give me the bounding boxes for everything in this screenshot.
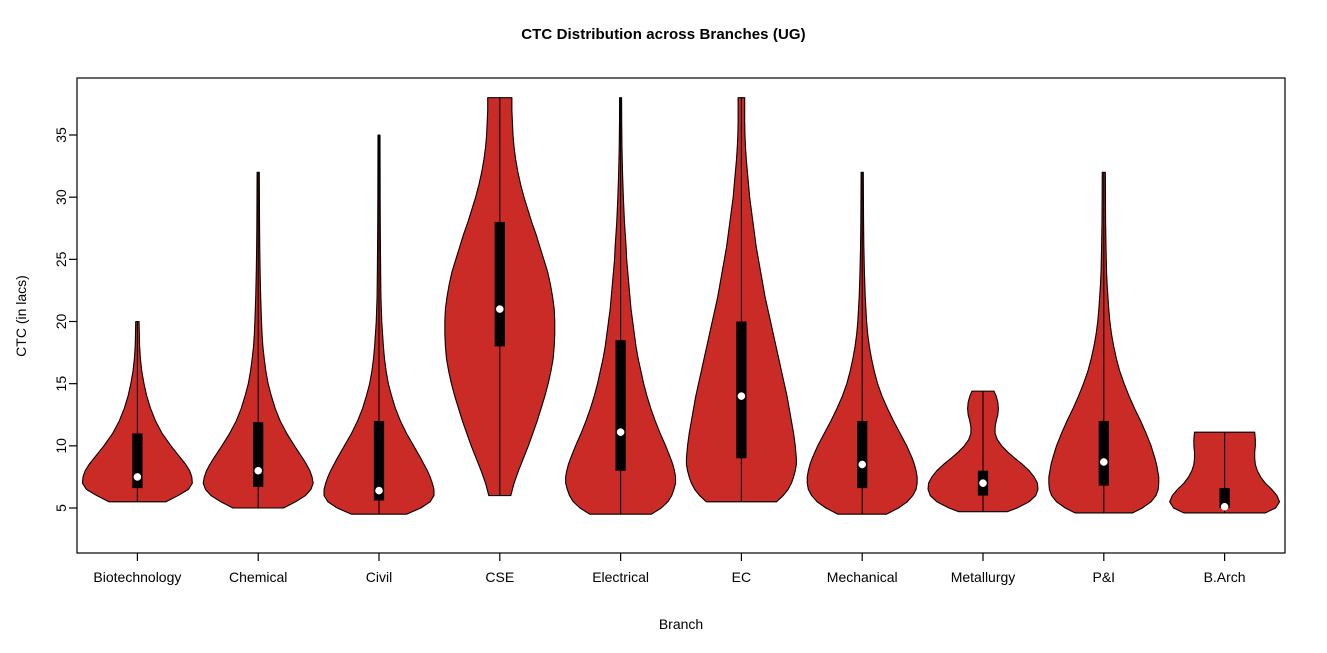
iqr-box (1099, 421, 1109, 486)
x-tick-label-electrical: Electrical (592, 569, 649, 585)
iqr-box (736, 322, 746, 459)
y-axis-ticks: 5101520253035 (53, 127, 77, 512)
y-axis-title: CTC (in lacs) (13, 275, 29, 357)
y-tick-label: 10 (53, 438, 69, 454)
violin-electrical[interactable] (566, 98, 676, 515)
y-tick-label: 30 (53, 189, 69, 205)
y-tick-label: 20 (53, 314, 69, 330)
x-tick-label-chemical: Chemical (229, 569, 287, 585)
iqr-box (253, 422, 263, 487)
x-tick-label-ec: EC (732, 569, 751, 585)
violin-b-arch[interactable] (1170, 432, 1280, 513)
x-axis-title: Branch (659, 616, 703, 632)
violin-civil[interactable] (324, 135, 434, 514)
x-tick-label-mechanical: Mechanical (827, 569, 898, 585)
iqr-box (495, 222, 505, 346)
violin-chemical[interactable] (203, 172, 313, 508)
violin-p-i[interactable] (1049, 172, 1159, 513)
violin-metallurgy[interactable] (928, 391, 1038, 512)
x-tick-label-metallurgy: Metallurgy (951, 569, 1016, 585)
violins-layer (82, 98, 1279, 515)
x-tick-label-p-i: P&I (1093, 569, 1116, 585)
median-dot (1221, 503, 1228, 510)
violin-cse[interactable] (445, 98, 555, 496)
y-tick-label: 35 (53, 127, 69, 143)
x-axis-ticks: BiotechnologyChemicalCivilCSEElectricalE… (93, 553, 1245, 585)
x-tick-label-biotechnology: Biotechnology (93, 569, 181, 585)
x-tick-label-cse: CSE (485, 569, 514, 585)
violin-ec[interactable] (686, 98, 796, 502)
chart-canvas: 5101520253035 BiotechnologyChemicalCivil… (0, 0, 1327, 653)
y-tick-label: 25 (53, 251, 69, 267)
median-dot (979, 480, 986, 487)
median-dot (1100, 458, 1107, 465)
median-dot (134, 473, 141, 480)
y-tick-label: 15 (53, 376, 69, 392)
violin-biotechnology[interactable] (82, 322, 192, 502)
x-tick-label-civil: Civil (366, 569, 392, 585)
median-dot (738, 393, 745, 400)
violin-plot-figure: CTC Distribution across Branches (UG) 51… (0, 0, 1327, 653)
median-dot (859, 461, 866, 468)
median-dot (255, 467, 262, 474)
y-tick-label: 5 (53, 504, 69, 512)
median-dot (496, 305, 503, 312)
violin-mechanical[interactable] (807, 172, 917, 514)
median-dot (375, 487, 382, 494)
x-tick-label-b-arch: B.Arch (1204, 569, 1246, 585)
iqr-box (857, 421, 867, 488)
iqr-box (615, 340, 625, 471)
median-dot (617, 429, 624, 436)
